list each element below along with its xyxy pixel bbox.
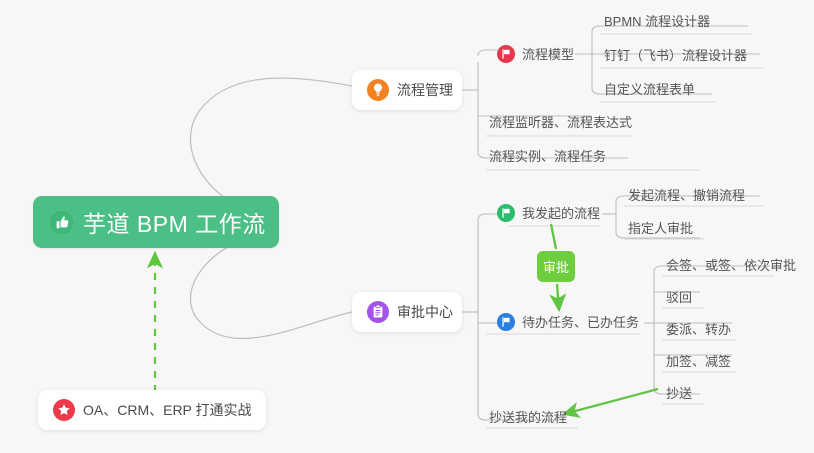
- flag-icon-green: [497, 204, 515, 222]
- topic-delegate-transfer-label: 委派、转办: [666, 319, 731, 338]
- topic-bpmn-designer[interactable]: BPMN 流程设计器: [604, 11, 710, 34]
- star-icon: [53, 399, 75, 421]
- thumbs-up-icon: [49, 210, 74, 235]
- topic-process-listener-expression[interactable]: 流程监听器、流程表达式: [489, 112, 632, 135]
- topic-cc-to-me-processes-label: 抄送我的流程: [489, 407, 567, 426]
- connector-to-my-initiated: [478, 214, 497, 220]
- topic-process-instance-task-label: 流程实例、流程任务: [489, 146, 606, 165]
- arrow-initiated-to-approve: [551, 224, 556, 249]
- topic-reject[interactable]: 驳回: [666, 287, 692, 310]
- topic-custom-process-form-label: 自定义流程表单: [604, 79, 695, 98]
- node-oa-crm-erp-label: OA、CRM、ERP 打通实战: [83, 400, 252, 420]
- topic-todo-done-tasks-label: 待办任务、已办任务: [522, 312, 639, 331]
- topic-start-cancel-process[interactable]: 发起流程、撤销流程: [628, 185, 745, 208]
- connector-root-to-process-management: [190, 78, 352, 215]
- topic-assignee-approval[interactable]: 指定人审批: [628, 218, 693, 241]
- node-approval-center[interactable]: 审批中心: [352, 292, 462, 332]
- arrow-cc-to-cc-to-me: [564, 389, 658, 414]
- topic-dingtalk-feishu-designer[interactable]: 钉钉（飞书）流程设计器: [604, 45, 747, 68]
- topic-cc-to-me-processes[interactable]: 抄送我的流程: [489, 407, 567, 430]
- topic-my-initiated-processes[interactable]: 我发起的流程: [497, 203, 600, 226]
- flag-icon-red: [497, 45, 515, 63]
- topic-bpmn-designer-label: BPMN 流程设计器: [604, 11, 710, 30]
- topic-process-instance-task[interactable]: 流程实例、流程任务: [489, 146, 606, 169]
- mindmap-canvas: 芋道 BPM 工作流 流程管理 审批中心: [0, 0, 814, 453]
- tag-approve-label: 审批: [543, 257, 569, 276]
- lightbulb-icon: [367, 79, 389, 101]
- topic-custom-process-form[interactable]: 自定义流程表单: [604, 79, 695, 102]
- connector-to-process-model: [478, 50, 497, 56]
- topic-process-listener-expression-label: 流程监听器、流程表达式: [489, 112, 632, 131]
- root-label: 芋道 BPM 工作流: [83, 205, 266, 239]
- topic-reject-label: 驳回: [666, 287, 692, 306]
- topic-cc-label: 抄送: [666, 383, 692, 402]
- arrow-approve-to-todo: [557, 284, 559, 310]
- topic-todo-done-tasks[interactable]: 待办任务、已办任务: [497, 312, 639, 335]
- node-process-management[interactable]: 流程管理: [352, 70, 462, 110]
- topic-process-model[interactable]: 流程模型: [497, 44, 574, 67]
- topic-add-remove-sign[interactable]: 加签、减签: [666, 351, 731, 374]
- topic-add-remove-sign-label: 加签、减签: [666, 351, 731, 370]
- topic-assignee-approval-label: 指定人审批: [628, 218, 693, 237]
- node-approval-center-label: 审批中心: [397, 302, 453, 322]
- topic-cc[interactable]: 抄送: [666, 383, 692, 406]
- flag-icon-blue: [497, 313, 515, 331]
- topic-dingtalk-feishu-designer-label: 钉钉（飞书）流程设计器: [604, 45, 747, 64]
- node-oa-crm-erp[interactable]: OA、CRM、ERP 打通实战: [38, 390, 266, 430]
- topic-start-cancel-process-label: 发起流程、撤销流程: [628, 185, 745, 204]
- topic-delegate-transfer[interactable]: 委派、转办: [666, 319, 731, 342]
- topic-process-model-label: 流程模型: [522, 44, 574, 63]
- clipboard-icon: [367, 301, 389, 323]
- topic-countersign-orsign-sequential-label: 会签、或签、依次审批: [666, 255, 796, 274]
- topic-countersign-orsign-sequential[interactable]: 会签、或签、依次审批: [666, 255, 796, 278]
- tag-approve[interactable]: 审批: [537, 251, 575, 282]
- topic-my-initiated-processes-label: 我发起的流程: [522, 203, 600, 222]
- node-process-management-label: 流程管理: [397, 80, 453, 100]
- root-node[interactable]: 芋道 BPM 工作流: [33, 196, 279, 248]
